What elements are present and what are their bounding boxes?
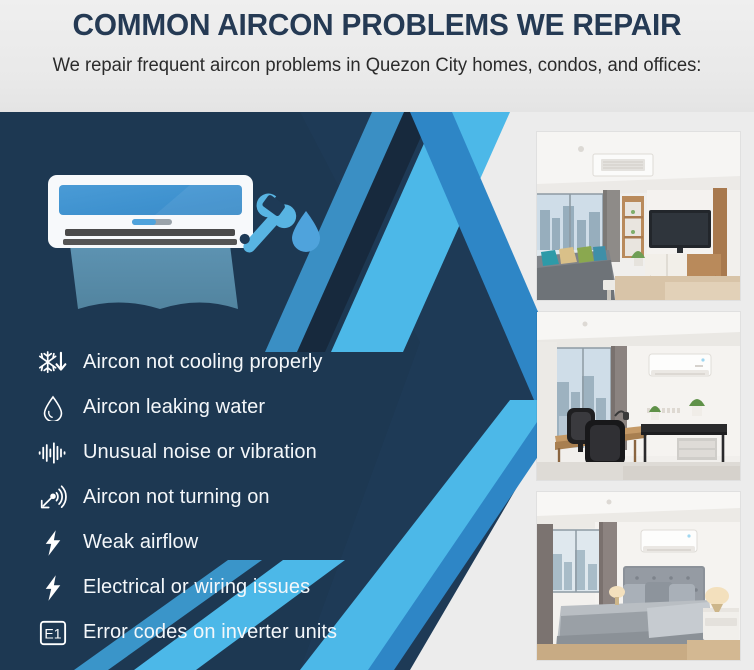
aircon-display-fill <box>132 219 156 225</box>
error-code-badge-icon: E1 <box>30 616 76 650</box>
waterdrop-icon <box>292 211 320 252</box>
list-item: Electrical or wiring issues <box>30 565 430 610</box>
aircon-illustration <box>40 163 330 311</box>
list-item: E1 Error codes on inverter units <box>30 610 430 655</box>
list-item: Aircon not turning on <box>30 475 430 520</box>
list-item: Aircon leaking water <box>30 385 430 430</box>
photo-living-room <box>537 132 740 300</box>
aircon-grille-top <box>65 229 235 236</box>
water-drop-icon <box>30 391 76 425</box>
list-item: Unusual noise or vibration <box>30 430 430 475</box>
aircon-problems-infographic: COMMON AIRCON PROBLEMS WE REPAIR We repa… <box>0 0 754 670</box>
list-item-label: Aircon not cooling properly <box>76 351 323 374</box>
page-title: COMMON AIRCON PROBLEMS WE REPAIR <box>15 7 739 43</box>
lightning-bolt-icon <box>30 526 76 560</box>
photo-bedroom <box>537 492 740 660</box>
page-subtitle: We repair frequent aircon problems in Qu… <box>11 55 742 77</box>
sound-wave-icon <box>30 436 76 470</box>
aircon-grille-bottom <box>63 239 237 245</box>
airflow-wave <box>70 245 238 309</box>
header: COMMON AIRCON PROBLEMS WE REPAIR We repa… <box>0 0 754 112</box>
list-item-label: Electrical or wiring issues <box>76 576 310 599</box>
list-item-label: Unusual noise or vibration <box>76 441 317 464</box>
list-item: Aircon not cooling properly <box>30 340 430 385</box>
list-item-label: Weak airflow <box>76 531 198 554</box>
list-item-label: Aircon leaking water <box>76 396 265 419</box>
power-signal-icon <box>30 481 76 515</box>
lightning-bolt-icon <box>30 571 76 605</box>
photo-home-office <box>537 312 740 480</box>
problem-list: Aircon not cooling properly Aircon leaki… <box>30 340 430 655</box>
list-item-label: Error codes on inverter units <box>76 621 337 644</box>
list-item: Weak airflow <box>30 520 430 565</box>
snowflake-down-icon <box>30 346 76 380</box>
svg-text:E1: E1 <box>44 625 61 641</box>
list-item-label: Aircon not turning on <box>76 486 270 509</box>
